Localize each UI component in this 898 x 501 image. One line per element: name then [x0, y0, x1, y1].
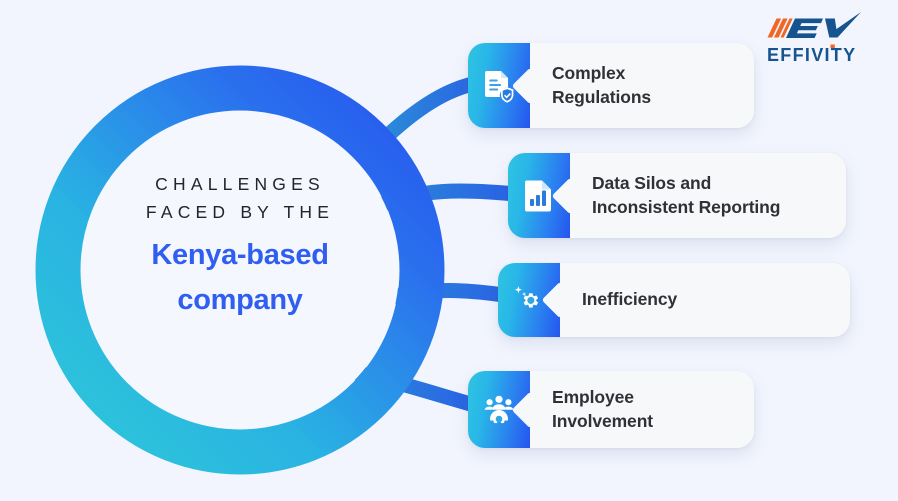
center-kicker-line1: CHALLENGES — [90, 170, 390, 198]
people-gear-icon — [481, 393, 517, 427]
gear-sparkle-icon — [512, 283, 546, 317]
effivity-logo: EFFIVITY — [764, 10, 884, 68]
card-label-line2: Inconsistent Reporting — [592, 196, 780, 219]
card-label: Data Silos and Inconsistent Reporting — [570, 153, 800, 238]
card-label: Inefficiency — [560, 263, 697, 337]
center-kicker-line2: FACED BY THE — [90, 198, 390, 226]
card-label-line1: Complex — [552, 62, 651, 85]
card-label: Complex Regulations — [530, 43, 671, 128]
icon-panel — [508, 153, 570, 238]
card-label: Employee Involvement — [530, 371, 673, 448]
card-label-line1: Data Silos and — [592, 172, 780, 195]
document-bar-chart-icon — [524, 179, 554, 212]
challenge-card-complex-regulations[interactable]: Complex Regulations — [468, 43, 754, 128]
challenge-card-employee-involvement[interactable]: Employee Involvement — [468, 371, 754, 448]
icon-panel — [498, 263, 560, 337]
icon-panel — [468, 371, 530, 448]
ev-logo-icon: EFFIVITY — [764, 10, 884, 68]
card-label-line2: Involvement — [552, 410, 653, 433]
card-label-line1: Inefficiency — [582, 288, 677, 311]
center-headline-line1: Kenya-based — [90, 238, 390, 272]
logo-i-dot — [831, 45, 835, 49]
icon-panel — [468, 43, 530, 128]
document-shield-icon — [483, 69, 515, 103]
center-label-group: CHALLENGES FACED BY THE Kenya-based comp… — [90, 170, 390, 317]
center-headline-line2: company — [90, 283, 390, 317]
infographic-canvas: CHALLENGES FACED BY THE Kenya-based comp… — [0, 0, 898, 501]
effivity-wordmark: EFFIVITY — [767, 45, 856, 65]
card-label-line2: Regulations — [552, 86, 651, 109]
challenge-card-data-silos[interactable]: Data Silos and Inconsistent Reporting — [508, 153, 846, 238]
challenge-card-inefficiency[interactable]: Inefficiency — [498, 263, 850, 337]
card-label-line1: Employee — [552, 386, 653, 409]
